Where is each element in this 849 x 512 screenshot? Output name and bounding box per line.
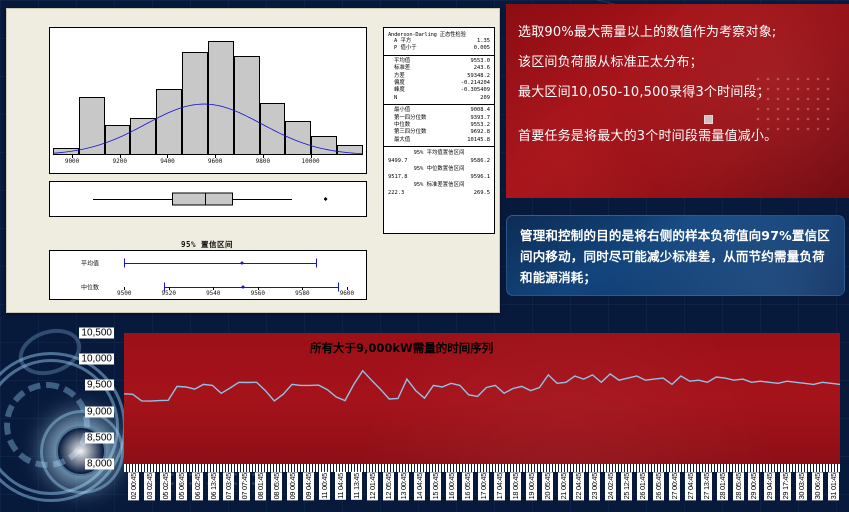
histogram-chart: 9000920094009600980010000: [49, 27, 367, 174]
ci-x-tick-label: 9560: [251, 290, 265, 297]
x-tick-label: 02 00:45: [128, 472, 139, 500]
x-tick-label: 31 01:45: [828, 472, 839, 500]
x-tick-label: 9800: [256, 158, 270, 165]
ci-plot-row: 平均值: [102, 251, 358, 275]
x-tick-label: 12 05:45: [383, 472, 394, 500]
quantiles-block: 最小值9008.4第一四分位数9393.7中位数9553.2第三四分位数9692…: [384, 105, 494, 147]
ci-x-tick-label: 9540: [206, 290, 220, 297]
stat-value: 59348.2: [467, 73, 490, 80]
time-series-tick-band: [124, 464, 840, 472]
x-tick-label: 23 00:45: [589, 472, 600, 500]
x-tick-label: 27 04:45: [685, 472, 696, 500]
red-line-2: 该区间负荷服从标准正太分布；: [518, 48, 833, 78]
ci-title-text: 95% 标准差置信区间: [388, 181, 490, 189]
x-tick-label: 08 01:45: [255, 472, 266, 500]
x-tick-label: 27 00:45: [669, 472, 680, 500]
ci-x-tick-label: 9580: [295, 290, 309, 297]
blue-line-3: 和能源消耗；: [520, 267, 830, 288]
x-tick-label: 05 06:45: [176, 472, 187, 500]
x-tick-label: 30 06:45: [812, 472, 823, 500]
x-tick-label: 24 02:45: [605, 472, 616, 500]
stat-value: 9553.0: [471, 58, 490, 65]
x-tick-label: 29 04:45: [764, 472, 775, 500]
normal-curve-overlay: [53, 31, 363, 155]
x-tick-label: 11 13:45: [351, 472, 362, 500]
slide-canvas: 9000920094009600980010000 95% 置信区间 平均值中位…: [0, 0, 849, 512]
stat-label: 最大值: [388, 137, 410, 144]
boxplot-outlier: [324, 197, 328, 201]
ci-plot-area: 平均值中位数: [102, 251, 358, 287]
ci-x-tick-label: 9600: [340, 290, 354, 297]
x-tick-label: 30 03:45: [796, 472, 807, 500]
stat-row: 第三四分位数9692.8: [388, 129, 490, 136]
stat-label: N: [388, 95, 397, 102]
x-tick-label: 09 00:45: [287, 472, 298, 500]
confidence-interval-block: 95% 平均值置信区间9499.79586.295% 中位数置信区间9517.8…: [384, 147, 494, 199]
stat-label: 峰度: [388, 87, 405, 94]
ci-upper: 9596.1: [471, 173, 490, 181]
ci-lower: 9499.7: [388, 157, 407, 165]
ci-values: 222.3269.5: [388, 189, 490, 197]
x-tick-label: 20 05:45: [542, 472, 553, 500]
red-line-1: 选取90%最大需量以上的数值作为考察对象;: [518, 18, 833, 48]
ci-x-tick-label: 9520: [162, 290, 176, 297]
stat-value: 243.6: [474, 65, 490, 72]
x-tick-label: 27 13:45: [701, 472, 712, 500]
stat-value: -0.214204: [461, 80, 490, 87]
histogram-plot-area: [53, 31, 363, 155]
ci-cap-lower: [124, 259, 125, 268]
stat-label: 第三四分位数: [388, 129, 426, 136]
stat-row: P 值小于0.005: [388, 45, 490, 52]
red-callout-text: 选取90%最大需量以上的数值作为考察对象; 该区间负荷服从标准正太分布； 最大区…: [506, 4, 849, 152]
stat-label: 第一四分位数: [388, 115, 426, 122]
x-tick-label: 29 17:45: [780, 472, 791, 500]
ci-values: 9517.89596.1: [388, 173, 490, 181]
stat-row: 标准差243.6: [388, 65, 490, 72]
time-series-path: [124, 371, 840, 401]
ci-title-text: 95% 平均值置信区间: [388, 149, 490, 157]
x-tick-label: 06 13:45: [208, 472, 219, 500]
confidence-interval-chart: 平均值中位数 950095209540956095809600: [49, 250, 367, 300]
stat-value: 1.35: [477, 38, 490, 45]
x-tick-label: 28 01:45: [717, 472, 728, 500]
ci-x-axis: 950095209540956095809600: [102, 287, 358, 299]
ci-lower: 9517.8: [388, 173, 407, 181]
stat-row: 峰度-0.305409: [388, 87, 490, 94]
x-tick-label: 10000: [302, 158, 320, 165]
x-tick-label: 16 00:45: [446, 472, 457, 500]
y-tick-label: 8,500: [85, 432, 114, 443]
x-tick-label: 06 02:45: [192, 472, 203, 500]
stat-label: 方差: [388, 73, 405, 80]
stat-value: 9393.7: [471, 115, 490, 122]
x-tick-label: 13 00:45: [398, 472, 409, 500]
red-callout-box: 选取90%最大需量以上的数值作为考察对象; 该区间负荷服从标准正太分布； 最大区…: [506, 4, 849, 198]
x-tick-label: 11 04:45: [335, 472, 346, 500]
ci-upper: 9586.2: [471, 157, 490, 165]
stat-value: 9692.8: [471, 129, 490, 136]
ci-x-tick-label: 9500: [117, 290, 131, 297]
x-tick-label: 28 05:45: [733, 472, 744, 500]
x-tick-label: 11 00:45: [319, 472, 330, 500]
x-tick-label: 12 01:45: [367, 472, 378, 500]
x-tick-label: 19 00:45: [526, 472, 537, 500]
time-series-x-axis: 02 00:4503 02:4505 02:4505 06:4506 02:45…: [124, 472, 840, 512]
stat-row: 方差59348.2: [388, 73, 490, 80]
x-tick-label: 15 00:45: [430, 472, 441, 500]
y-tick-label: 10,000: [79, 354, 114, 365]
minitab-graphical-summary-panel: 9000920094009600980010000 95% 置信区间 平均值中位…: [6, 8, 500, 313]
blue-callout-text: 管理和控制的目的是将右侧的样本负荷值向97%置信区 间内移动，同时尽可能减少标准…: [507, 216, 844, 288]
x-tick-label: 08 05:45: [271, 472, 282, 500]
x-tick-label: 16 05:45: [462, 472, 473, 500]
x-tick-label: 09 04:45: [303, 472, 314, 500]
x-tick-label: 9200: [113, 158, 127, 165]
x-tick-label: 9600: [208, 158, 222, 165]
x-tick-label: 25 12:45: [621, 472, 632, 500]
boxplot-chart: [49, 181, 367, 217]
red-line-3: 最大区间10,050-10,500录得3个时间段；: [518, 78, 833, 108]
x-tick-label: 22 04:45: [573, 472, 584, 500]
blue-line-1: 管理和控制的目的是将右侧的样本负荷值向97%置信区: [520, 225, 830, 246]
stat-value: 0.005: [474, 45, 490, 52]
stat-row: 最小值9008.4: [388, 107, 490, 114]
stat-row: N209: [388, 95, 490, 102]
summary-statistics-table: Anderson-Darling 正态性检验 A 平方1.35P 值小于0.00…: [383, 27, 495, 234]
stat-value: -0.305409: [461, 87, 490, 94]
normal-curve: [53, 104, 363, 154]
x-tick-label: 21 00:45: [558, 472, 569, 500]
ci-values: 9499.79586.2: [388, 157, 490, 165]
x-tick-label: 9400: [160, 158, 174, 165]
anderson-darling-title: Anderson-Darling 正态性检验: [388, 30, 490, 38]
red-line-4: 首要任务是将最大的3个时间段需量值减小。: [518, 122, 833, 152]
x-tick-label: 14 04:45: [414, 472, 425, 500]
stat-row: 第一四分位数9393.7: [388, 115, 490, 122]
anderson-darling-block: Anderson-Darling 正态性检验 A 平方1.35P 值小于0.00…: [384, 28, 494, 56]
x-tick-label: 9000: [65, 158, 79, 165]
x-tick-label: 29 00:45: [748, 472, 759, 500]
blue-callout-box: 管理和控制的目的是将右侧的样本负荷值向97%置信区 间内移动，同时尽可能减少标准…: [506, 215, 845, 296]
ci-title-text: 95% 中位数置信区间: [388, 165, 490, 173]
ci-cap-upper: [316, 259, 317, 268]
stat-row: 最大值10145.8: [388, 137, 490, 144]
ci-plot-title: 95% 置信区间: [49, 239, 365, 250]
x-tick-label: 07 07:45: [239, 472, 250, 500]
y-tick-label: 10,500: [79, 328, 114, 339]
boxplot-median: [205, 193, 206, 206]
ci-lower: 222.3: [388, 189, 404, 197]
mouse-cursor-marker: [704, 115, 713, 124]
ci-row-label: 中位数: [81, 283, 99, 292]
ci-range-bar: [124, 263, 317, 264]
x-tick-label: 26 01:45: [637, 472, 648, 500]
descriptive-stats-block: 平均值9553.0标准差243.6方差59348.2偏度-0.214204峰度-…: [384, 56, 494, 105]
stat-label: P 值小于: [388, 45, 417, 52]
x-tick-label: 17 04:45: [494, 472, 505, 500]
x-tick-label: 03 02:45: [144, 472, 155, 500]
x-tick-label: 05 02:45: [160, 472, 171, 500]
stat-value: 209: [480, 95, 490, 102]
stat-value: 9553.2: [471, 122, 490, 129]
boxplot-plot-area: [50, 182, 366, 216]
stat-value: 10145.8: [467, 137, 490, 144]
stat-label: 标准差: [388, 65, 410, 72]
ci-upper: 269.5: [474, 189, 490, 197]
x-tick-label: 17 00:45: [478, 472, 489, 500]
y-tick-label: 9,000: [85, 406, 114, 417]
y-tick-label: 9,500: [85, 380, 114, 391]
histogram-x-axis: 9000920094009600980010000: [53, 155, 363, 173]
ci-center-point: [241, 262, 244, 265]
stat-value: 9008.4: [471, 107, 490, 114]
boxplot-box: [172, 193, 233, 206]
time-series-title: 所有大于9,000kW需量的时间序列: [310, 340, 493, 356]
y-tick-label: 8,000: [85, 459, 114, 470]
ci-row-label: 平均值: [81, 259, 99, 268]
x-tick-label: 18 00:45: [510, 472, 521, 500]
stat-label: 最小值: [388, 107, 410, 114]
blue-line-2: 间内移动，同时尽可能减少标准差，从而节约需量负荷: [520, 246, 830, 267]
x-tick-label: 07 03:45: [223, 472, 234, 500]
x-tick-label: 26 05:45: [653, 472, 664, 500]
